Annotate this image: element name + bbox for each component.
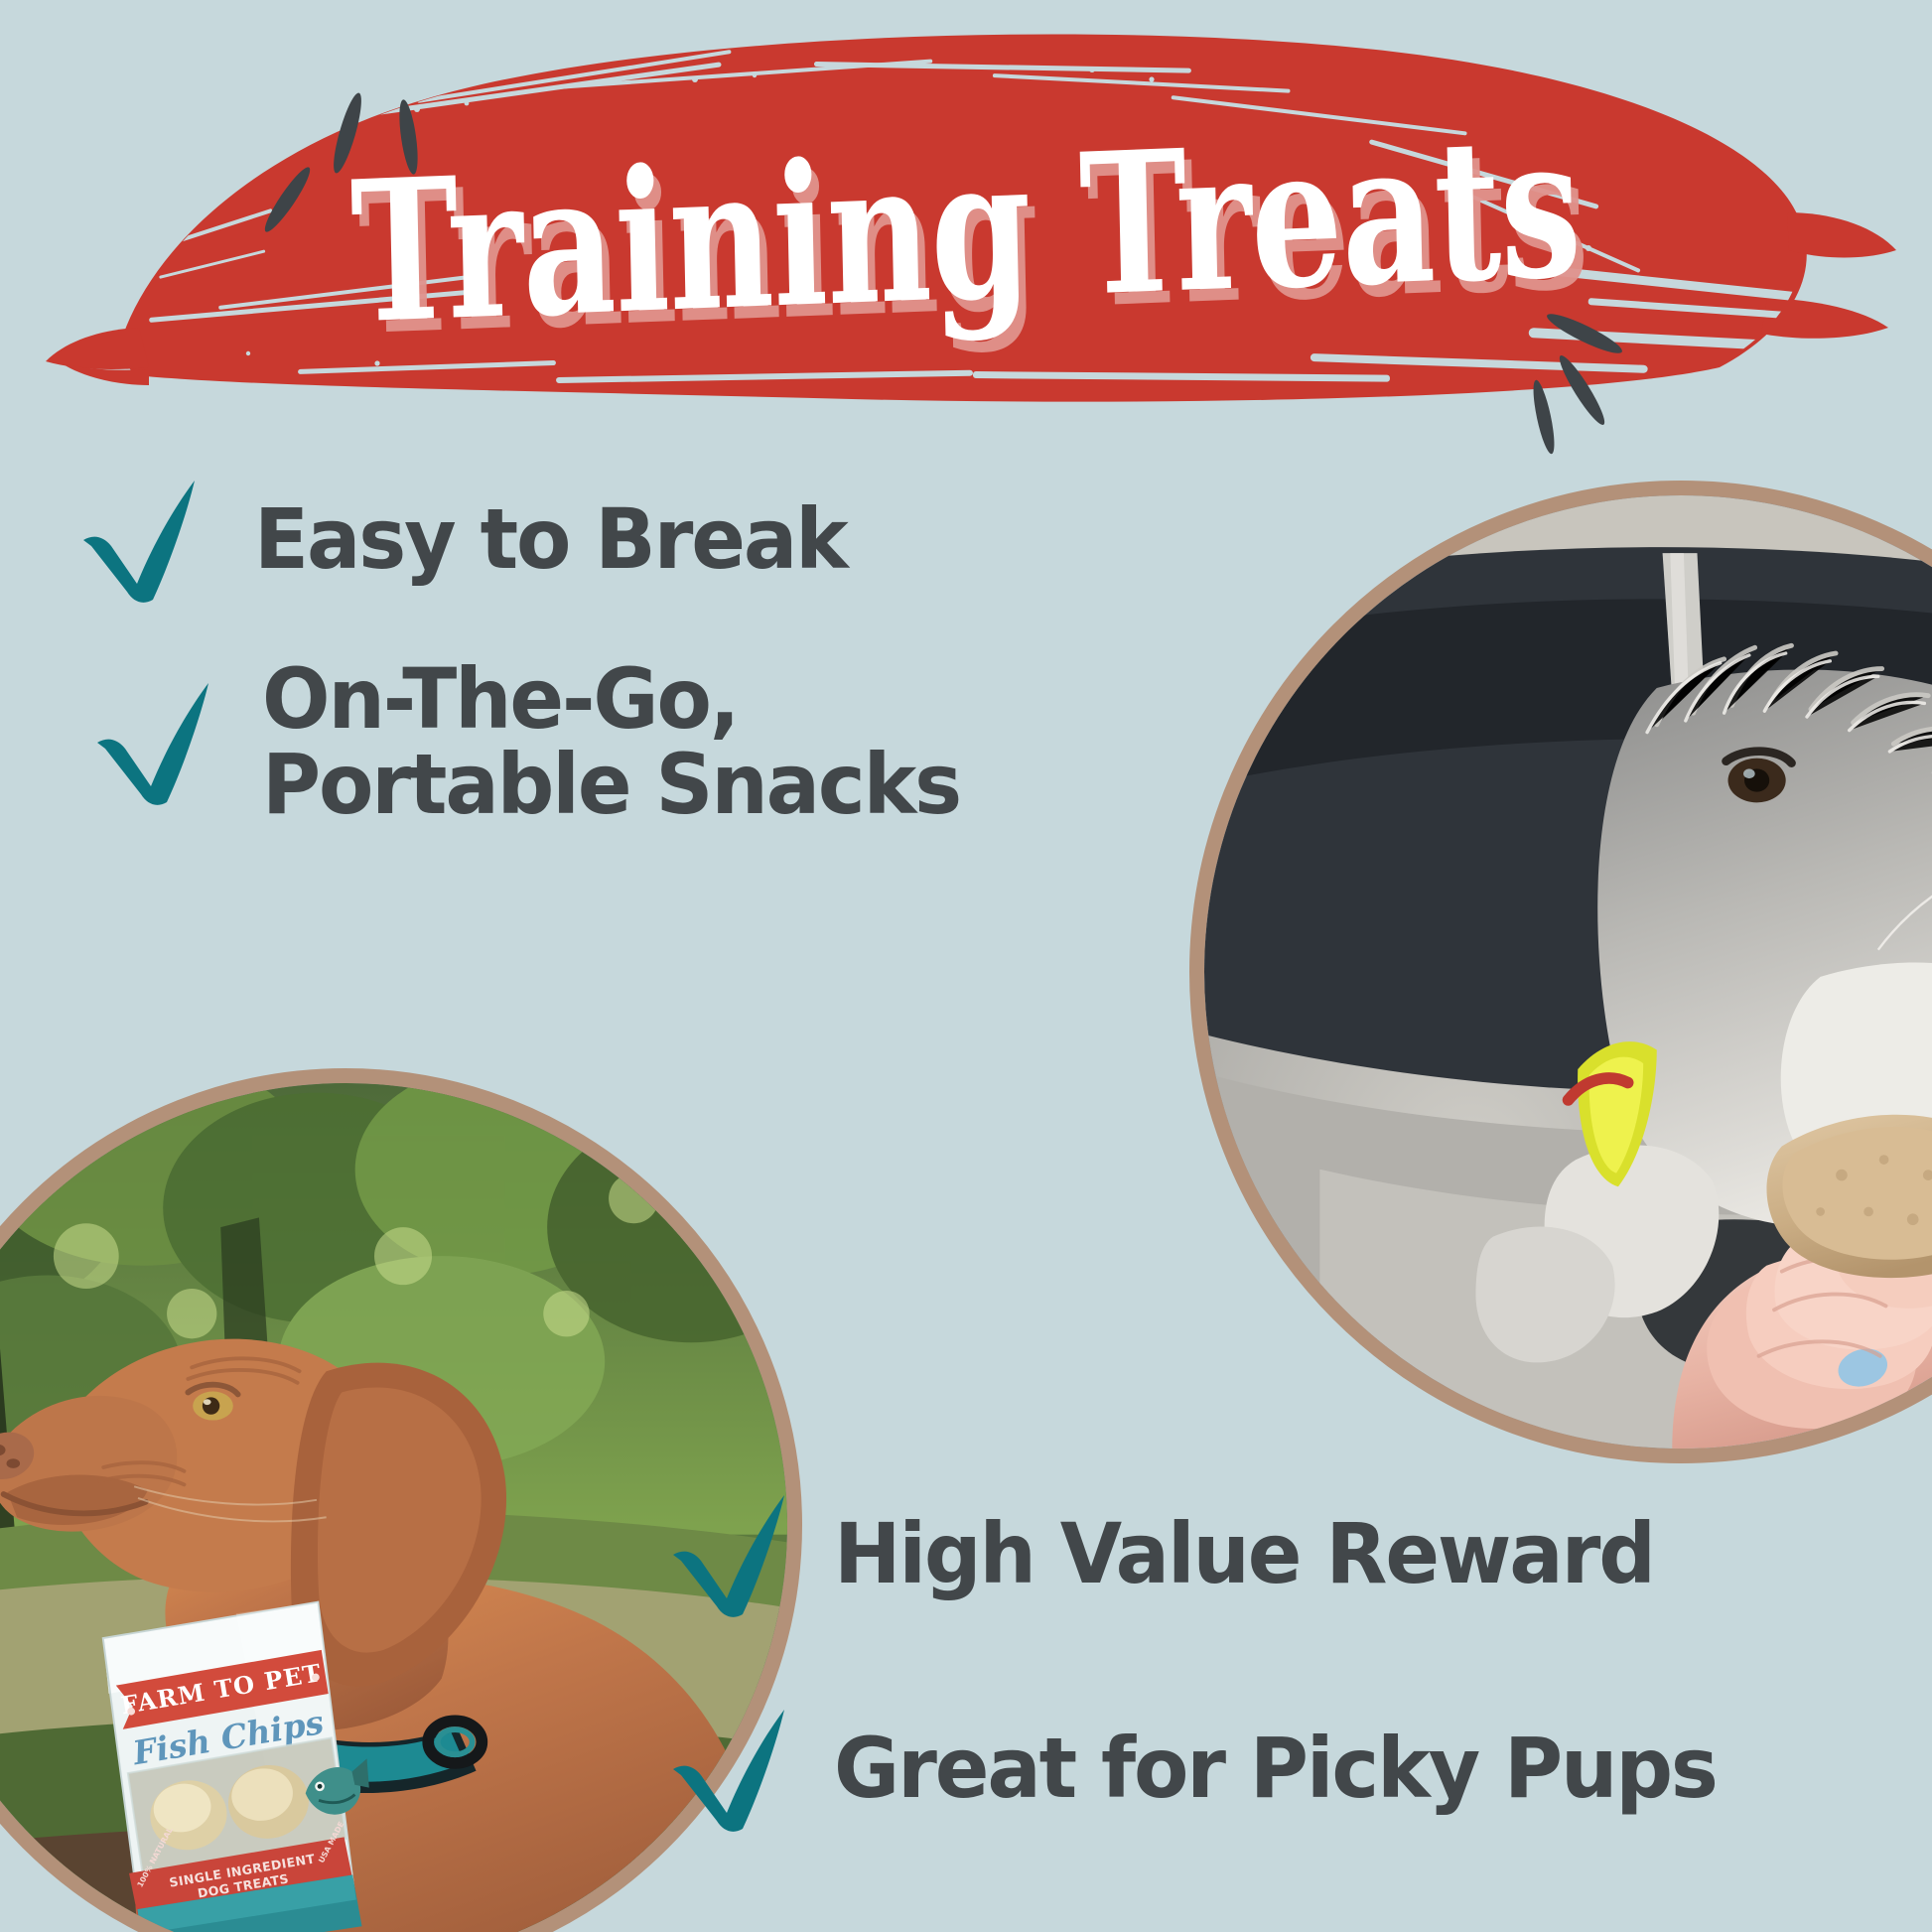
- feature-row-easy-to-break: Easy to Break: [77, 475, 872, 606]
- brush-stroke-shape: [0, 0, 1932, 427]
- feature-label: On-The-Go, Portable Snacks: [262, 657, 960, 827]
- feature-row-high-value-reward: High Value Reward: [667, 1489, 1688, 1620]
- promo-graphic: Training Treats: [0, 0, 1932, 1932]
- dog-taking-treat-photo: [1204, 495, 1932, 1449]
- feature-row-on-the-go-portable: On-The-Go, Portable Snacks: [91, 657, 989, 827]
- checkmark-icon: [667, 1704, 792, 1835]
- photo-circle-dog-taking-treat: [1189, 481, 1932, 1463]
- feature-label: High Value Reward: [834, 1512, 1654, 1597]
- title-banner: [0, 0, 1932, 427]
- feature-label: Great for Picky Pups: [834, 1726, 1717, 1812]
- checkmark-icon: [91, 677, 216, 808]
- feature-label: Easy to Break: [254, 497, 847, 583]
- dog-taking-treat-illustration: [1204, 495, 1932, 1449]
- checkmark-icon: [667, 1489, 792, 1620]
- checkmark-icon: [77, 475, 203, 606]
- feature-row-great-for-picky-pups: Great for Picky Pups: [667, 1704, 1753, 1835]
